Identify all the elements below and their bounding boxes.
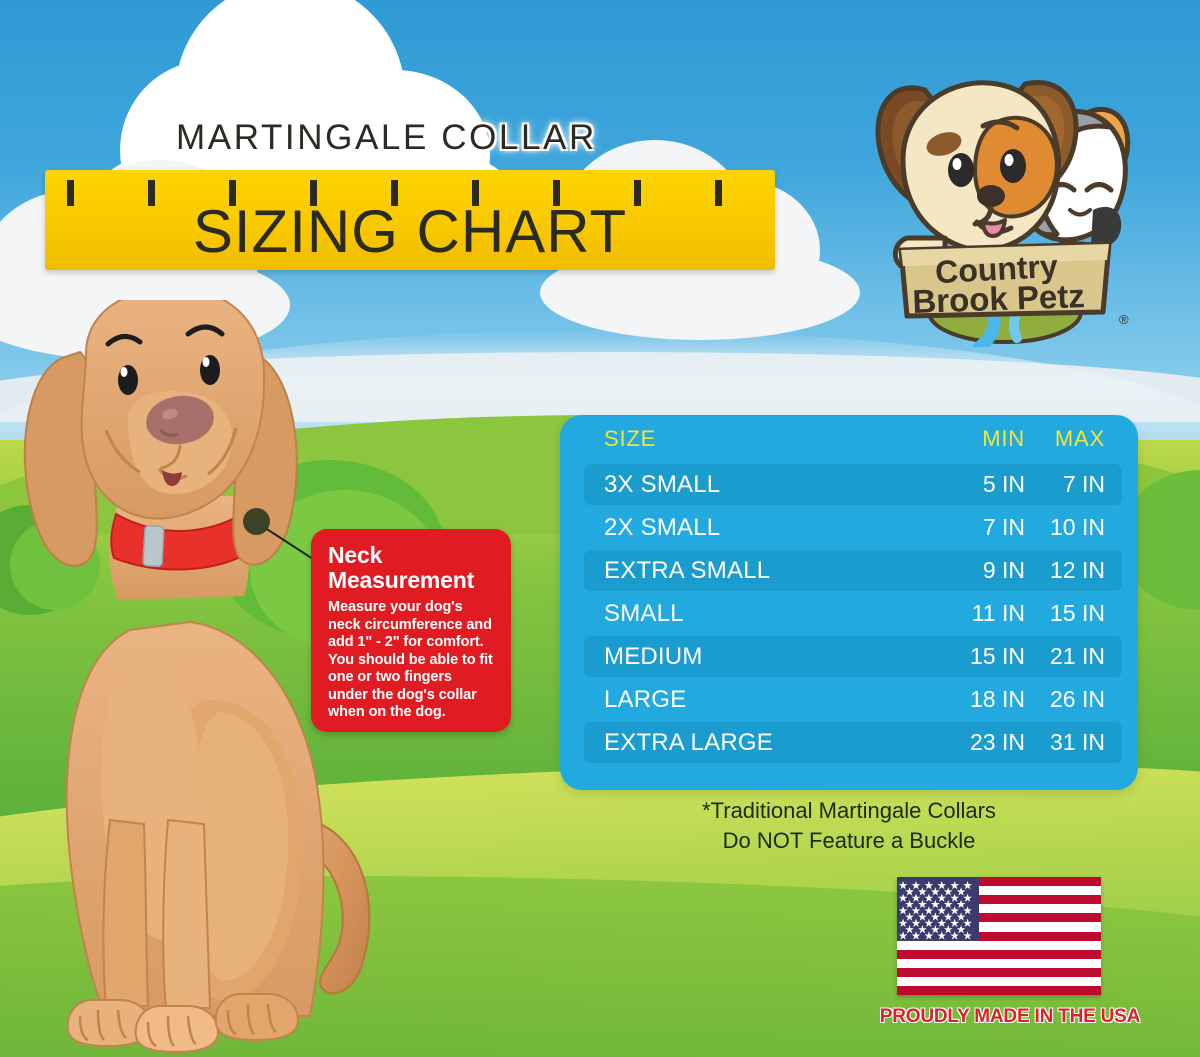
cell-min: 15 IN <box>930 643 1025 670</box>
cell-min: 23 IN <box>930 729 1025 756</box>
table-row: EXTRA SMALL 9 IN 12 IN <box>560 549 1138 592</box>
cell-max: 7 IN <box>1025 471 1105 498</box>
page-title-top: MARTINGALE COLLAR <box>176 118 676 158</box>
cell-size: SMALL <box>560 600 930 628</box>
size-chart-panel: SIZE MIN MAX 3X SMALL 5 IN 7 IN 2X SMALL… <box>560 415 1138 790</box>
cell-min: 7 IN <box>930 514 1025 541</box>
usa-flag-icon <box>897 877 1101 995</box>
callout-body-line7: when on the dog. <box>328 704 446 720</box>
dog-front-leg-right <box>163 820 210 1008</box>
ruler-banner: SIZING CHART <box>45 170 775 270</box>
made-in-usa-text: PROUDLY MADE IN THE USA <box>860 1006 1160 1028</box>
infographic-canvas: MARTINGALE COLLAR SIZING CHART <box>0 0 1200 1057</box>
buckle-note-line2: Do NOT Feature a Buckle <box>560 826 1138 856</box>
logo-line2: Brook Petz <box>912 277 1086 320</box>
dog-front-leg-left <box>103 820 148 1006</box>
callout-pointer-dot <box>243 508 270 535</box>
neck-measurement-callout: Neck Measurement Measure your dog's neck… <box>311 529 511 732</box>
table-row: 3X SMALL 5 IN 7 IN <box>560 463 1138 506</box>
table-row: LARGE 18 IN 26 IN <box>560 678 1138 721</box>
table-row: MEDIUM 15 IN 21 IN <box>560 635 1138 678</box>
cell-size: 3X SMALL <box>560 471 930 499</box>
callout-heading-line2: Measurement <box>328 567 474 593</box>
table-header-row: SIZE MIN MAX <box>560 415 1138 463</box>
table-row: SMALL 11 IN 15 IN <box>560 592 1138 635</box>
cell-max: 21 IN <box>1025 643 1105 670</box>
page-title-main: SIZING CHART <box>45 202 775 262</box>
callout-body-line1: Measure your dog's <box>328 599 463 615</box>
column-header-min: MIN <box>930 426 1025 452</box>
cell-min: 18 IN <box>930 686 1025 713</box>
callout-heading-line1: Neck <box>328 542 382 568</box>
flag-canton <box>897 877 979 941</box>
cell-size: LARGE <box>560 686 930 714</box>
cell-size: 2X SMALL <box>560 514 930 542</box>
country-brook-petz-logo: Country Brook Petz ® <box>865 62 1145 347</box>
cell-size: MEDIUM <box>560 643 930 671</box>
cell-max: 31 IN <box>1025 729 1105 756</box>
column-header-size: SIZE <box>560 426 930 452</box>
column-header-max: MAX <box>1025 426 1105 452</box>
callout-heading: Neck Measurement <box>311 529 511 593</box>
callout-body-line3: add 1" - 2" for comfort. <box>328 634 484 650</box>
cell-max: 10 IN <box>1025 514 1105 541</box>
cell-min: 11 IN <box>930 600 1025 627</box>
callout-body-line6: under the dog's collar <box>328 687 477 703</box>
callout-body-line4: You should be able to fit <box>328 652 493 668</box>
cell-max: 15 IN <box>1025 600 1105 627</box>
collar-buckle <box>143 526 164 567</box>
logo-trademark: ® <box>1119 312 1129 327</box>
cell-min: 5 IN <box>930 471 1025 498</box>
buckle-note: *Traditional Martingale Collars Do NOT F… <box>560 796 1138 856</box>
callout-body-line2: neck circumference and <box>328 617 492 633</box>
cell-max: 12 IN <box>1025 557 1105 584</box>
table-row: EXTRA LARGE 23 IN 31 IN <box>560 721 1138 764</box>
table-row: 2X SMALL 7 IN 10 IN <box>560 506 1138 549</box>
cell-min: 9 IN <box>930 557 1025 584</box>
buckle-note-line1: *Traditional Martingale Collars <box>560 796 1138 826</box>
cell-size: EXTRA SMALL <box>560 557 930 585</box>
callout-body-line5: one or two fingers <box>328 669 452 685</box>
callout-body: Measure your dog's neck circumference an… <box>311 593 511 722</box>
cell-size: EXTRA LARGE <box>560 729 930 757</box>
cell-max: 26 IN <box>1025 686 1105 713</box>
